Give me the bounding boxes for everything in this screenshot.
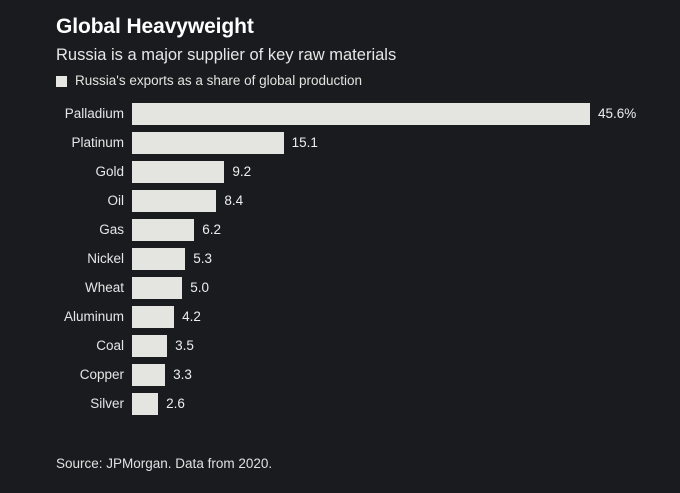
bar-category-label: Palladium [0,103,124,125]
bar-row: Coal3.5 [0,335,680,364]
bar-category-label: Coal [0,335,124,357]
bar-fill [132,190,216,212]
chart-card: Global Heavyweight Russia is a major sup… [0,0,680,493]
bar-category-label: Oil [0,190,124,212]
bar-fill [132,103,590,125]
bar-fill [132,393,158,415]
bar-track: 8.4 [132,190,680,212]
bar-row: Gas6.2 [0,219,680,248]
bar-track: 3.3 [132,364,680,386]
bar-track: 15.1 [132,132,680,154]
bar-category-label: Gold [0,161,124,183]
bar-value-label: 9.2 [232,161,251,183]
bar-track: 6.2 [132,219,680,241]
bar-track: 9.2 [132,161,680,183]
bar-value-label: 3.5 [175,335,194,357]
bar-fill [132,132,284,154]
bar-track: 3.5 [132,335,680,357]
bar-fill [132,364,165,386]
bar-fill [132,219,194,241]
bar-value-label: 8.4 [224,190,243,212]
bar-value-label: 5.3 [193,248,212,270]
bar-row: Nickel5.3 [0,248,680,277]
bar-row: Silver2.6 [0,393,680,422]
bar-row: Aluminum4.2 [0,306,680,335]
bar-value-label: 5.0 [190,277,209,299]
bar-category-label: Nickel [0,248,124,270]
bar-value-label: 45.6% [598,103,636,125]
bar-value-label: 4.2 [182,306,201,328]
chart-subtitle: Russia is a major supplier of key raw ma… [56,44,660,66]
square-swatch-icon [56,76,67,87]
bar-track: 45.6% [132,103,680,125]
bar-fill [132,306,174,328]
bar-track: 5.3 [132,248,680,270]
bar-fill [132,248,185,270]
chart-legend: Russia's exports as a share of global pr… [56,73,660,89]
source-note: Source: JPMorgan. Data from 2020. [56,455,272,472]
bar-row: Oil8.4 [0,190,680,219]
bar-value-label: 2.6 [166,393,185,415]
bar-row: Palladium45.6% [0,103,680,132]
bar-chart-plot: Palladium45.6%Platinum15.1Gold9.2Oil8.4G… [0,103,680,422]
page-title: Global Heavyweight [56,14,660,40]
bar-fill [132,277,182,299]
bar-category-label: Aluminum [0,306,124,328]
bar-row: Platinum15.1 [0,132,680,161]
bar-category-label: Gas [0,219,124,241]
bar-track: 4.2 [132,306,680,328]
bar-category-label: Silver [0,393,124,415]
bar-fill [132,161,224,183]
bar-track: 2.6 [132,393,680,415]
bar-track: 5.0 [132,277,680,299]
bar-row: Wheat5.0 [0,277,680,306]
bar-category-label: Platinum [0,132,124,154]
bar-value-label: 6.2 [202,219,221,241]
bar-value-label: 15.1 [292,132,318,154]
bar-value-label: 3.3 [173,364,192,386]
bar-row: Copper3.3 [0,364,680,393]
chart-header: Global Heavyweight Russia is a major sup… [56,14,660,89]
bar-fill [132,335,167,357]
bar-category-label: Wheat [0,277,124,299]
bar-category-label: Copper [0,364,124,386]
legend-item-label: Russia's exports as a share of global pr… [75,73,362,89]
bar-row: Gold9.2 [0,161,680,190]
